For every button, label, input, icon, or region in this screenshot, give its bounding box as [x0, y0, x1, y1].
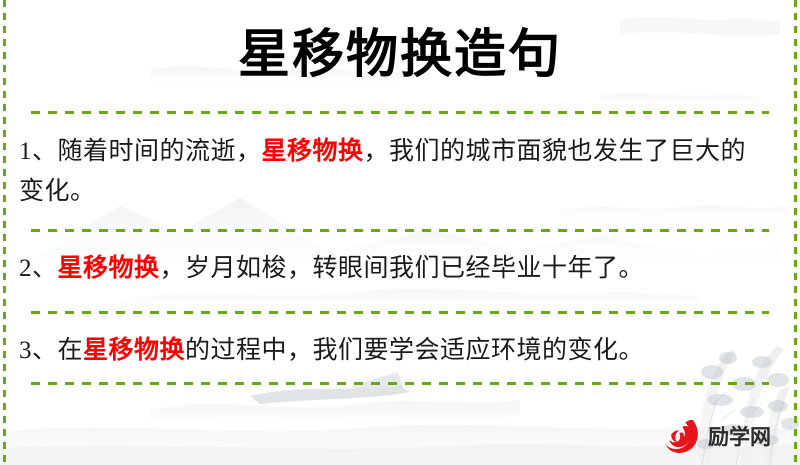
sentence-2-keyword: 星移物换: [58, 255, 160, 282]
page-title: 星移物换造句: [0, 22, 800, 88]
sentence-3-after: 的过程中，我们要学会适应环境的变化。: [185, 337, 644, 364]
sentence-3-keyword: 星移物换: [83, 337, 185, 364]
separator-line-3: [31, 311, 769, 314]
site-logo[interactable]: 励学网: [662, 414, 787, 460]
separator-line-1: [31, 111, 769, 114]
sentence-worksheet-page: 星移物换造句 1、随着时间的流逝，星移物换，我们的城市面貌也发生了巨大的变化。 …: [0, 0, 800, 465]
logo-text: 励学网: [708, 425, 771, 449]
sentence-1-index: 1、: [19, 138, 58, 165]
separator-line-4: [31, 382, 769, 385]
sentence-1-before: 随着时间的流逝，: [58, 138, 262, 165]
sentence-2-after: ，岁月如梭，转眼间我们已经毕业十年了。: [160, 255, 645, 282]
red-swirl-flame-icon: [662, 416, 704, 458]
sentence-1-keyword: 星移物换: [262, 138, 364, 165]
sentence-2-index: 2、: [19, 255, 58, 282]
sentence-item-3: 3、在星移物换的过程中，我们要学会适应环境的变化。: [19, 331, 760, 371]
sentence-3-before: 在: [58, 337, 84, 364]
separator-line-2: [31, 229, 769, 232]
sentence-3-index: 3、: [19, 337, 58, 364]
sentence-item-1: 1、随着时间的流逝，星移物换，我们的城市面貌也发生了巨大的变化。: [19, 132, 760, 212]
sentence-item-2: 2、星移物换，岁月如梭，转眼间我们已经毕业十年了。: [19, 249, 760, 289]
